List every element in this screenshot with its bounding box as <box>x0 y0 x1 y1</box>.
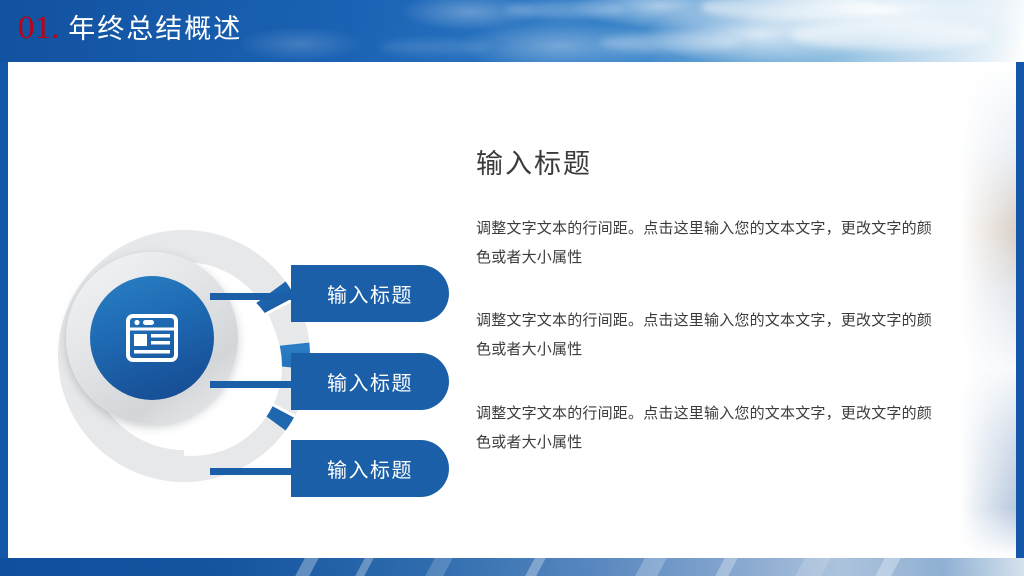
slide-canvas: 01. 年终总结概述 <box>0 0 1024 576</box>
cloud-streak-icon <box>790 20 990 50</box>
content-paragraph-1: 调整文字文本的行间距。点击这里输入您的文本文字，更改文字的颜色或者大小属性 <box>476 214 936 273</box>
section-title: 年终总结概述 <box>68 16 242 43</box>
section-number: 01. <box>18 12 59 45</box>
mountain-photo-edge <box>960 62 1016 558</box>
cloud-streak-icon <box>505 2 625 18</box>
pill-tag-3[interactable] <box>291 440 449 497</box>
ice-streak-icon <box>525 558 546 576</box>
footer-mountain-band <box>0 558 1024 576</box>
infographic-diagram: 输入标题 输入标题 输入标题 <box>50 220 470 535</box>
icon-disc <box>90 276 214 400</box>
ice-streak-icon <box>875 558 901 576</box>
ice-streak-icon <box>295 558 319 576</box>
webpage-article-icon <box>126 314 178 362</box>
ice-streak-icon <box>795 558 831 576</box>
text-column: 输入标题 调整文字文本的行间距。点击这里输入您的文本文字，更改文字的颜色或者大小… <box>476 150 946 457</box>
content-title: 输入标题 <box>476 150 946 180</box>
content-paragraph-3: 调整文字文本的行间距。点击这里输入您的文本文字，更改文字的颜色或者大小属性 <box>476 399 936 458</box>
cloud-streak-icon <box>380 40 490 54</box>
cloud-streak-icon <box>600 34 740 52</box>
ice-streak-icon <box>635 558 667 576</box>
ice-streak-icon <box>355 558 374 576</box>
pill-tag-1[interactable] <box>291 265 449 322</box>
ice-streak-icon <box>425 558 453 576</box>
page-title: 01. 年终总结概述 <box>18 12 242 45</box>
content-paragraph-2: 调整文字文本的行间距。点击这里输入您的文本文字，更改文字的颜色或者大小属性 <box>476 306 936 365</box>
cloud-streak-icon <box>700 0 880 20</box>
ice-streak-icon <box>715 558 738 576</box>
content-panel: 输入标题 输入标题 输入标题 输入标题 调整文字文本的行间距。点击这里输入您的文… <box>8 62 1016 558</box>
header-sky-band: 01. 年终总结概述 <box>0 0 1024 62</box>
pill-tag-2[interactable] <box>291 353 449 410</box>
